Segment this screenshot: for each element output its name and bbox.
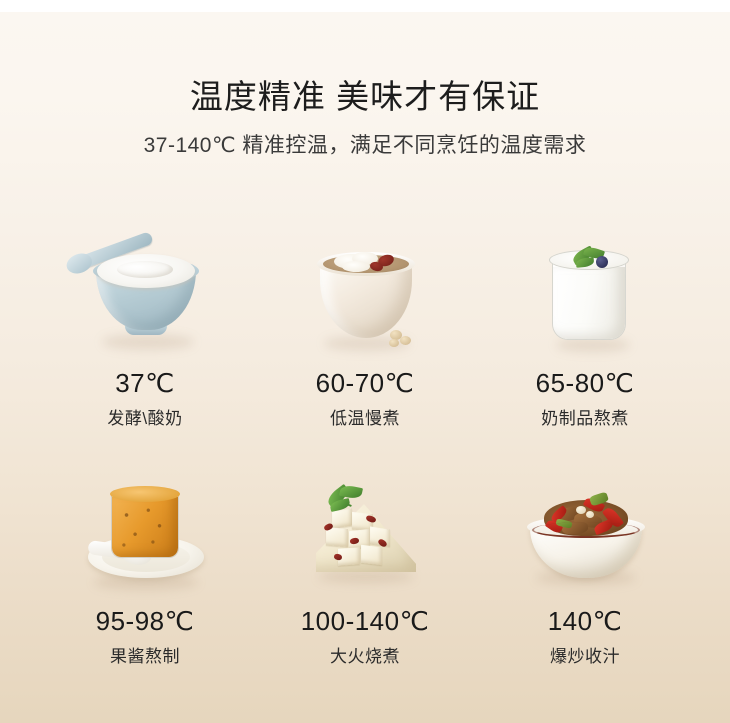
top-white-band: [0, 0, 730, 12]
scenario-description: 发酵\酸奶: [107, 407, 182, 431]
scenario-card-slow-cook: 60-70℃ 低温慢煮: [255, 222, 475, 460]
jam-jar-image: [70, 466, 220, 592]
jam-body: [112, 497, 178, 557]
page-title: 温度精准 美味才有保证: [0, 76, 730, 118]
scenario-card-yogurt: 37℃ 发酵\酸奶: [35, 222, 255, 460]
header: 温度精准 美味才有保证 37-140℃ 精准控温，满足不同烹饪的温度需求: [0, 76, 730, 160]
scenario-card-jam: 95-98℃ 果酱熬制: [35, 460, 255, 698]
temperature-scenarios-grid: 37℃ 发酵\酸奶 60-70℃ 低温慢煮: [35, 222, 695, 698]
scenario-description: 爆炒收汁: [550, 645, 620, 669]
nougat-pile-image: [290, 466, 440, 592]
milk-glass-image: [510, 228, 660, 354]
scenario-temperature: 140℃: [548, 606, 623, 636]
bowl-rim-accent: [532, 522, 640, 538]
scenario-description: 大火烧煮: [330, 645, 400, 669]
scenario-description: 低温慢煮: [330, 407, 400, 431]
scenario-temperature: 95-98℃: [96, 606, 195, 636]
garlic-clove: [586, 511, 594, 518]
tremella-soup-cup-image: [290, 228, 440, 354]
scenario-temperature: 37℃: [115, 368, 175, 398]
scenario-temperature: 60-70℃: [316, 368, 415, 398]
scenario-description: 奶制品熬煮: [541, 407, 629, 431]
nougat-cube: [361, 545, 382, 566]
scenario-card-stir-fry: 140℃ 爆炒收汁: [475, 460, 695, 698]
lotus-seed: [400, 336, 411, 345]
milk-liquid: [553, 267, 625, 339]
yogurt-swirl: [97, 254, 195, 288]
blueberry: [596, 256, 608, 268]
garlic-clove: [576, 506, 586, 514]
drop-shadow: [556, 338, 630, 352]
scenario-card-dairy: 65-80℃ 奶制品熬煮: [475, 222, 695, 460]
stir-fry-bowl-image: [510, 466, 660, 592]
nougat-cube: [332, 509, 352, 529]
scenario-temperature: 100-140℃: [301, 606, 430, 636]
jam-surface: [110, 486, 180, 502]
lotus-seed: [389, 339, 399, 347]
scenario-card-high-heat: 100-140℃ 大火烧煮: [255, 460, 475, 698]
scenario-description: 果酱熬制: [110, 645, 180, 669]
tremella-piece: [342, 261, 370, 272]
yogurt-bowl-image: [70, 228, 220, 354]
scenario-temperature: 65-80℃: [536, 368, 635, 398]
promo-page: 温度精准 美味才有保证 37-140℃ 精准控温，满足不同烹饪的温度需求 37℃…: [0, 0, 730, 723]
page-subtitle: 37-140℃ 精准控温，满足不同烹饪的温度需求: [0, 132, 730, 160]
drop-shadow: [102, 334, 194, 350]
nougat-cube: [326, 527, 348, 547]
